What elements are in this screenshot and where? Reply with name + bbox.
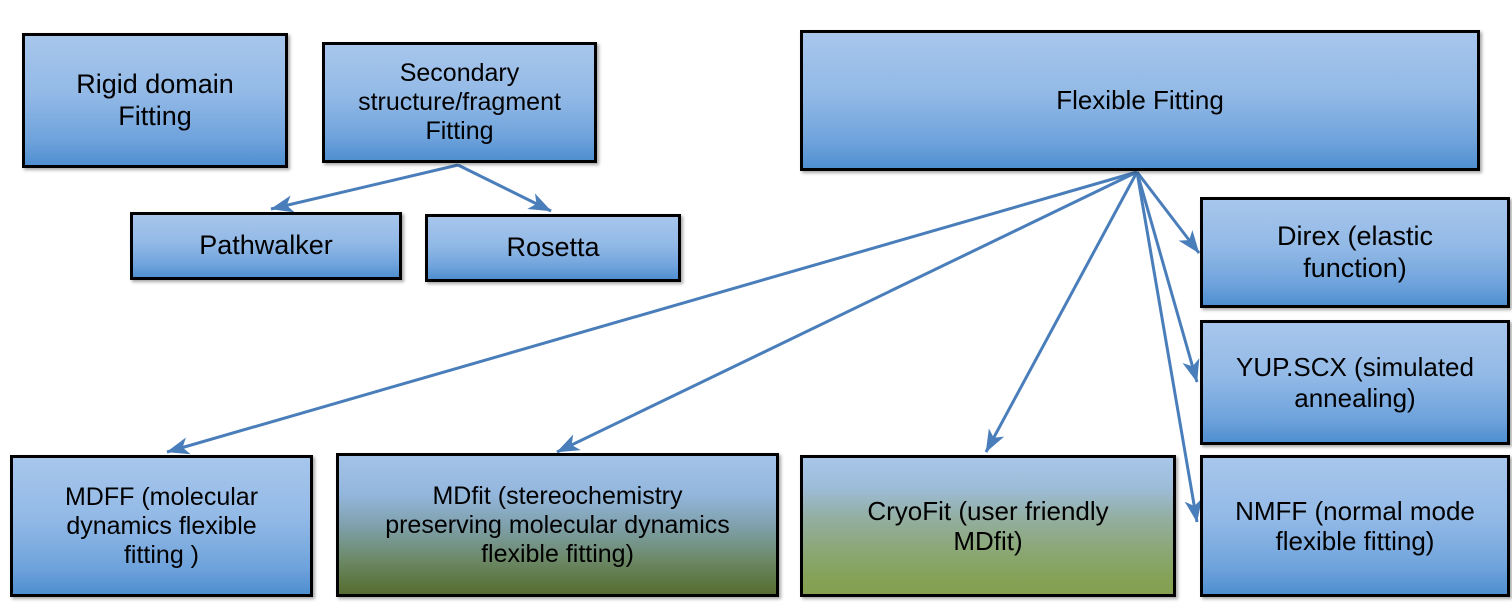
node-rigid-domain-fitting[interactable]: Rigid domain Fitting [22, 33, 288, 168]
node-label-flexible-fitting: Flexible Fitting [1056, 85, 1224, 115]
node-nmff[interactable]: NMFF (normal mode flexible fitting) [1200, 455, 1510, 597]
node-label-rosetta: Rosetta [506, 232, 599, 263]
node-secondary-structure-fragment-fitting[interactable]: Secondary structure/fragment Fitting [322, 42, 597, 163]
arrow-flexible-to-cryofit [986, 172, 1137, 452]
node-pathwalker[interactable]: Pathwalker [130, 212, 402, 280]
node-yup-scx[interactable]: YUP.SCX (simulated annealing) [1200, 320, 1510, 445]
diagram-canvas: Rigid domain FittingSecondary structure/… [0, 0, 1512, 610]
node-flexible-fitting[interactable]: Flexible Fitting [800, 30, 1480, 171]
node-label-secondary-structure-fragment-fitting: Secondary structure/fragment Fitting [358, 59, 561, 146]
arrow-flexible-to-direx [1137, 172, 1199, 253]
arrow-secondary-to-pathwalker [271, 165, 458, 209]
node-label-yup-scx: YUP.SCX (simulated annealing) [1236, 352, 1474, 412]
node-label-mdff: MDFF (molecular dynamics flexible fittin… [65, 483, 258, 570]
node-label-nmff: NMFF (normal mode flexible fitting) [1235, 496, 1475, 556]
node-direx[interactable]: Direx (elastic function) [1200, 197, 1510, 308]
arrow-flexible-to-yupscx [1137, 172, 1197, 382]
node-rosetta[interactable]: Rosetta [425, 214, 681, 282]
node-label-direx: Direx (elastic function) [1277, 221, 1433, 284]
node-label-mdfit: MDfit (stereochemistry preserving molecu… [385, 482, 730, 569]
arrow-secondary-to-rosetta [458, 165, 551, 211]
node-cryofit[interactable]: CryoFit (user friendly MDfit) [800, 455, 1176, 597]
node-label-rigid-domain-fitting: Rigid domain Fitting [76, 69, 234, 132]
node-label-pathwalker: Pathwalker [199, 230, 333, 261]
node-mdfit[interactable]: MDfit (stereochemistry preserving molecu… [336, 453, 779, 597]
node-label-cryofit: CryoFit (user friendly MDfit) [867, 496, 1108, 556]
node-mdff[interactable]: MDFF (molecular dynamics flexible fittin… [10, 455, 313, 597]
